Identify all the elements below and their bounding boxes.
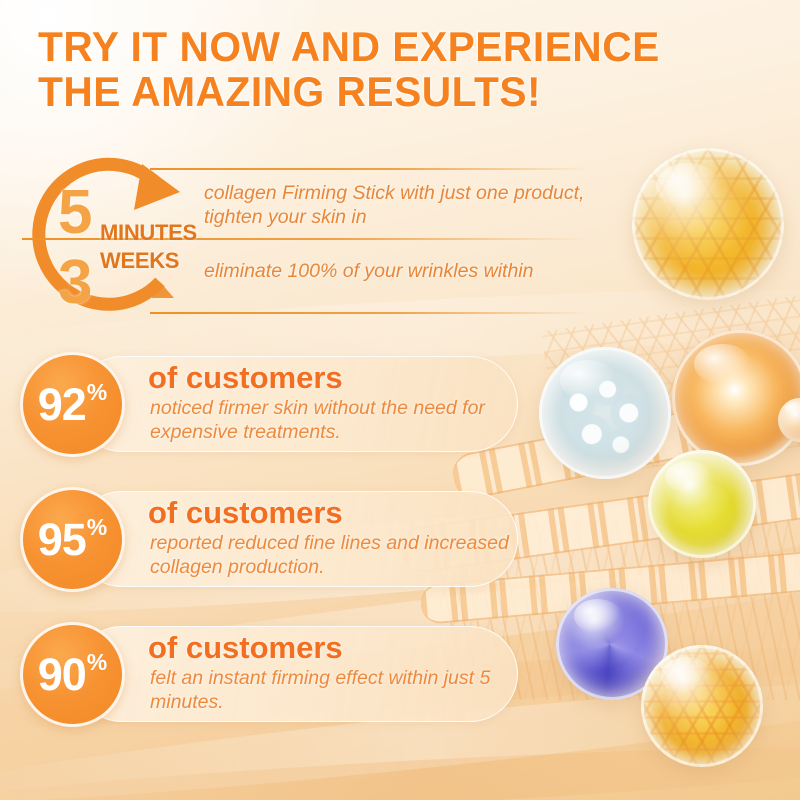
stat-percent-sign: % bbox=[87, 651, 107, 674]
glass-ring bbox=[648, 450, 756, 558]
glass-ring bbox=[672, 330, 800, 466]
stat-heading: of customers bbox=[148, 362, 343, 393]
stat-description: noticed firmer skin without the need for… bbox=[150, 396, 510, 444]
honeycomb-sphere-large bbox=[632, 148, 784, 300]
promo-poster: TRY IT NOW AND EXPERIENCE THE AMAZING RE… bbox=[0, 0, 800, 800]
orange-glow-sphere bbox=[672, 330, 800, 466]
yellow-oil-sphere bbox=[648, 450, 756, 558]
stat-percent-value: 95 bbox=[38, 517, 86, 562]
cycle-text-minutes: collagen Firming Stick with just one pro… bbox=[204, 182, 604, 230]
headline: TRY IT NOW AND EXPERIENCE THE AMAZING RE… bbox=[38, 24, 727, 115]
cycle-text-weeks: eliminate 100% of your wrinkles within bbox=[204, 260, 604, 284]
cycle-unit-minutes: MINUTES bbox=[100, 222, 197, 244]
stat-description: felt an instant firming effect within ju… bbox=[150, 666, 510, 714]
honeycomb-sphere-small bbox=[641, 645, 763, 767]
stat-badge: 92 % bbox=[20, 352, 125, 457]
stat-heading: of customers bbox=[148, 632, 343, 663]
stat-badge: 90 % bbox=[20, 622, 125, 727]
stat-percent-value: 90 bbox=[38, 652, 86, 697]
bubble-cluster-sphere bbox=[539, 347, 671, 479]
background-wave-streak bbox=[0, 733, 800, 800]
stat-row: of customers reported reduced fine lines… bbox=[20, 487, 500, 591]
cycle-block: 5 MINUTES collagen Firming Stick with ju… bbox=[0, 140, 620, 330]
cycle-number-minutes: 5 bbox=[58, 182, 92, 244]
headline-line-2: THE AMAZING RESULTS! bbox=[38, 69, 727, 114]
blue-swirl-sphere bbox=[556, 588, 668, 700]
glass-ring bbox=[539, 347, 671, 479]
stat-description: reported reduced fine lines and increase… bbox=[150, 531, 510, 579]
glass-ring bbox=[632, 148, 784, 300]
stat-badge: 95 % bbox=[20, 487, 125, 592]
glass-ring bbox=[556, 588, 668, 700]
cycle-number-weeks: 3 bbox=[58, 252, 92, 314]
cycle-unit-weeks: WEEKS bbox=[100, 250, 179, 272]
tiny-amber-sphere bbox=[778, 398, 800, 442]
cycle-divider-bottom bbox=[150, 312, 590, 314]
stat-percent-sign: % bbox=[87, 516, 107, 539]
cycle-divider-top bbox=[150, 168, 590, 170]
stat-row: of customers noticed firmer skin without… bbox=[20, 352, 500, 456]
stat-row: of customers felt an instant firming eff… bbox=[20, 622, 500, 726]
glass-ring bbox=[641, 645, 763, 767]
stat-heading: of customers bbox=[148, 497, 343, 528]
stat-percent-value: 92 bbox=[38, 382, 86, 427]
stat-percent-sign: % bbox=[87, 381, 107, 404]
headline-line-1: TRY IT NOW AND EXPERIENCE bbox=[38, 23, 660, 70]
